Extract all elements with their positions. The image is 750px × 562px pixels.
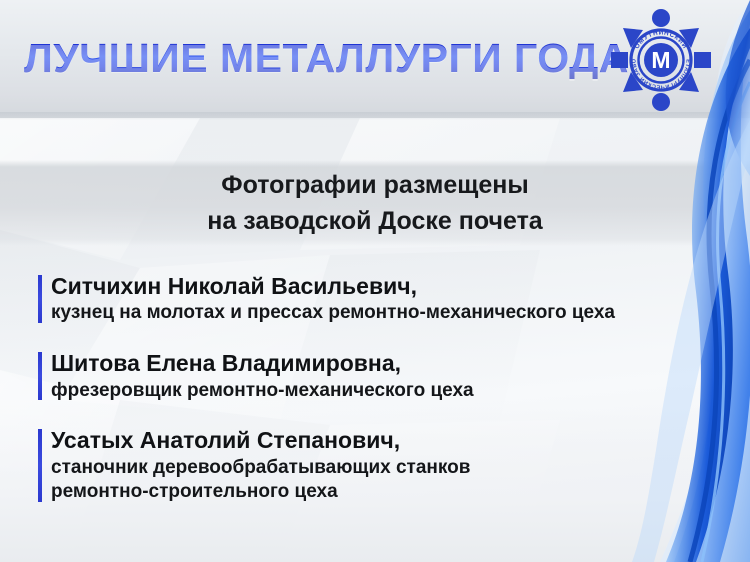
honoree-role-line: станочник деревообрабатывающих станков (51, 456, 728, 481)
accent-bar (38, 429, 42, 502)
subtitle-line-1: Фотографии размещены (0, 168, 750, 204)
honoree-name: Шитова Елена Владимировна, (51, 349, 728, 378)
honoree-role-line: ремонтно-строительного цеха (51, 480, 728, 505)
accent-bar (38, 352, 42, 400)
honoree-role-line: фрезеровщик ремонтно-механического цеха (51, 379, 728, 404)
honoree-name: Ситчихин Николай Васильевич, (51, 272, 728, 301)
accent-bar (38, 275, 42, 323)
honoree-role: кузнец на молотах и прессах ремонтно-мех… (51, 301, 728, 326)
company-logo-icon: ОМУТНИНСКИЙ МЕТАЛЛУРГИЧЕСКИЙ ЗАВОД М (609, 8, 713, 112)
subtitle: Фотографии размещены на заводской Доске … (0, 168, 750, 239)
page-title: ЛУЧШИЕ МЕТАЛЛУРГИ ГОДА (24, 38, 629, 79)
honoree-entry: Усатых Анатолий Степанович, станочник де… (38, 426, 728, 505)
slide-content: ЛУЧШИЕ МЕТАЛЛУРГИ ГОДА (0, 0, 750, 562)
subtitle-line-2: на заводской Доске почета (0, 204, 750, 240)
honoree-entry: Ситчихин Николай Васильевич, кузнец на м… (38, 272, 728, 326)
slide-canvas: ЛУЧШИЕ МЕТАЛЛУРГИ ГОДА (0, 0, 750, 562)
logo-center-letter: М (651, 47, 670, 73)
honoree-role-line: кузнец на молотах и прессах ремонтно-мех… (51, 301, 728, 326)
honoree-entry: Шитова Елена Владимировна, фрезеровщик р… (38, 349, 728, 403)
honoree-role: фрезеровщик ремонтно-механического цеха (51, 379, 728, 404)
honoree-list: Ситчихин Николай Васильевич, кузнец на м… (38, 272, 728, 505)
honoree-role: станочник деревообрабатывающих станков р… (51, 456, 728, 505)
honoree-name: Усатых Анатолий Степанович, (51, 426, 728, 455)
